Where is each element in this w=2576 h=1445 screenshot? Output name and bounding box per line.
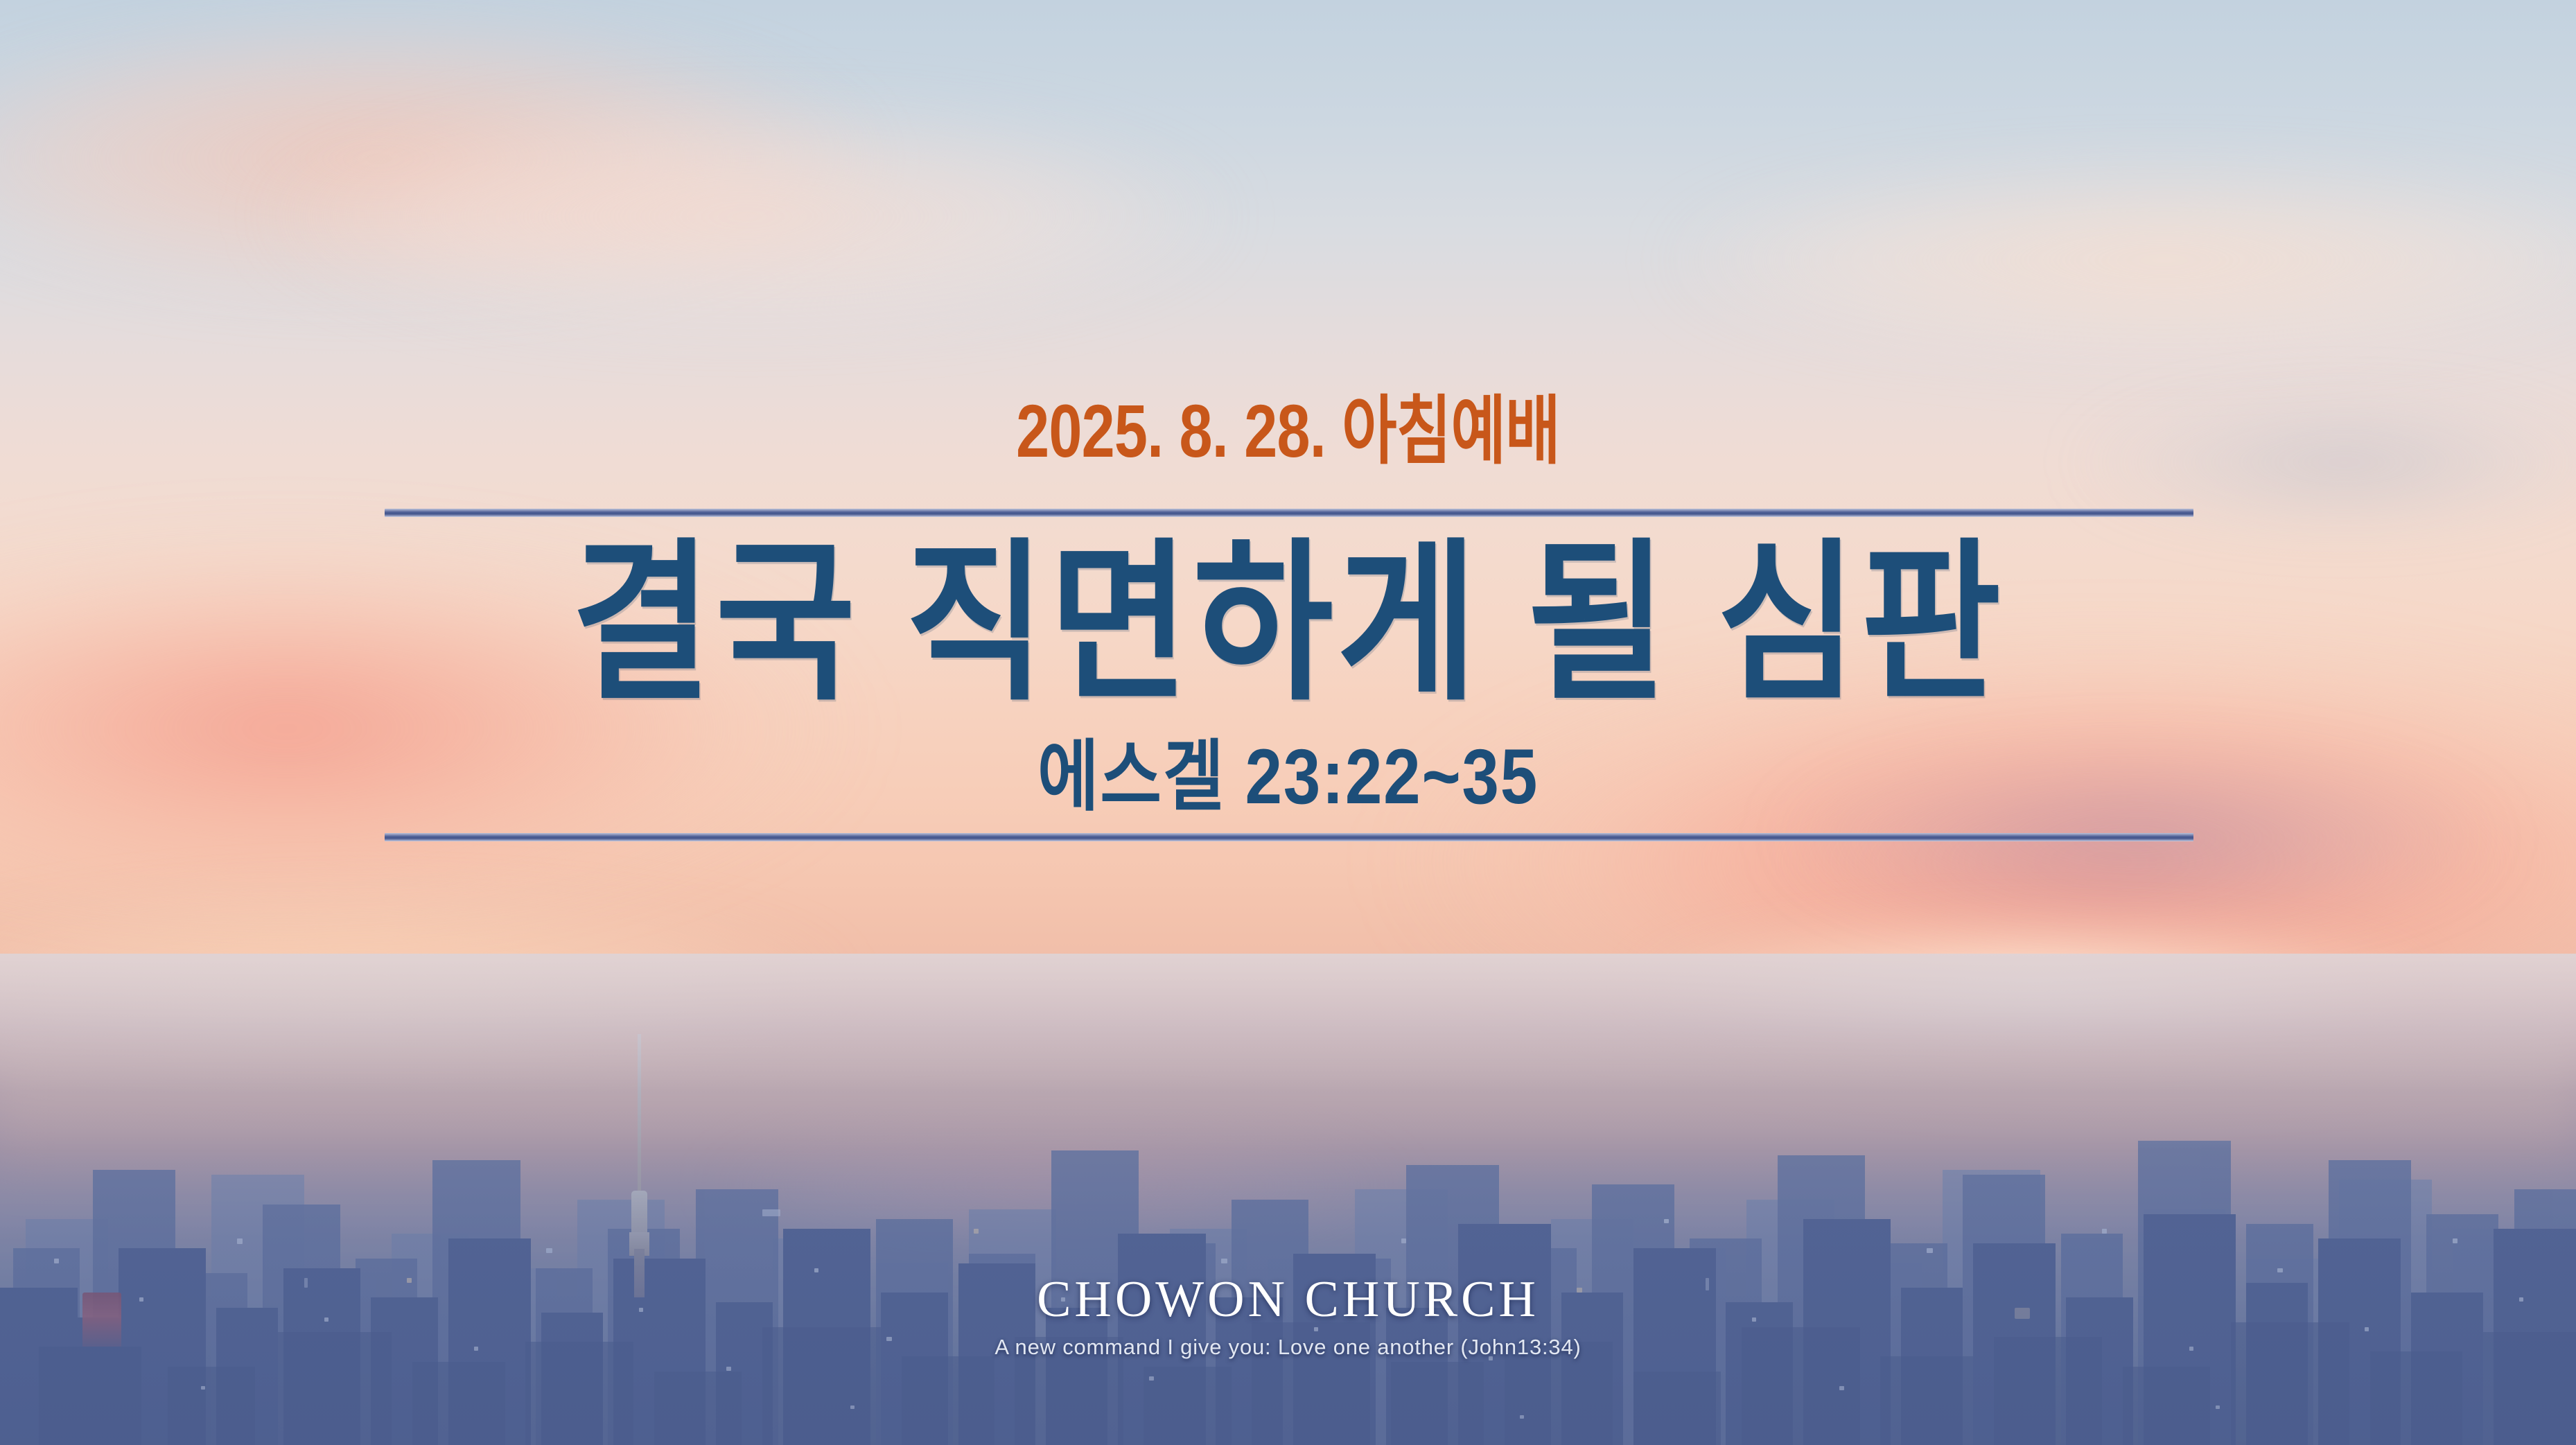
service-date-label: 2025. 8. 28. 아침예배 [258,392,2319,470]
church-name: CHOWON CHURCH [0,1274,2576,1325]
divider-line-bottom [385,833,2193,841]
sermon-title: 결국 직면하게 될 심판 [155,537,2421,710]
divider-line-top [385,509,2193,517]
scripture-reference: 에스겔 23:22~35 [180,736,2396,818]
sermon-title-slide: 2025. 8. 28. 아침예배 결국 직면하게 될 심판 에스겔 23:22… [0,0,2576,1445]
church-tagline: A new command I give you: Love one anoth… [0,1336,2576,1358]
church-logo: CHOWON CHURCH A new command I give you: … [0,1274,2576,1358]
slide-text-content: 2025. 8. 28. 아침예배 결국 직면하게 될 심판 에스겔 23:22… [0,0,2576,1445]
